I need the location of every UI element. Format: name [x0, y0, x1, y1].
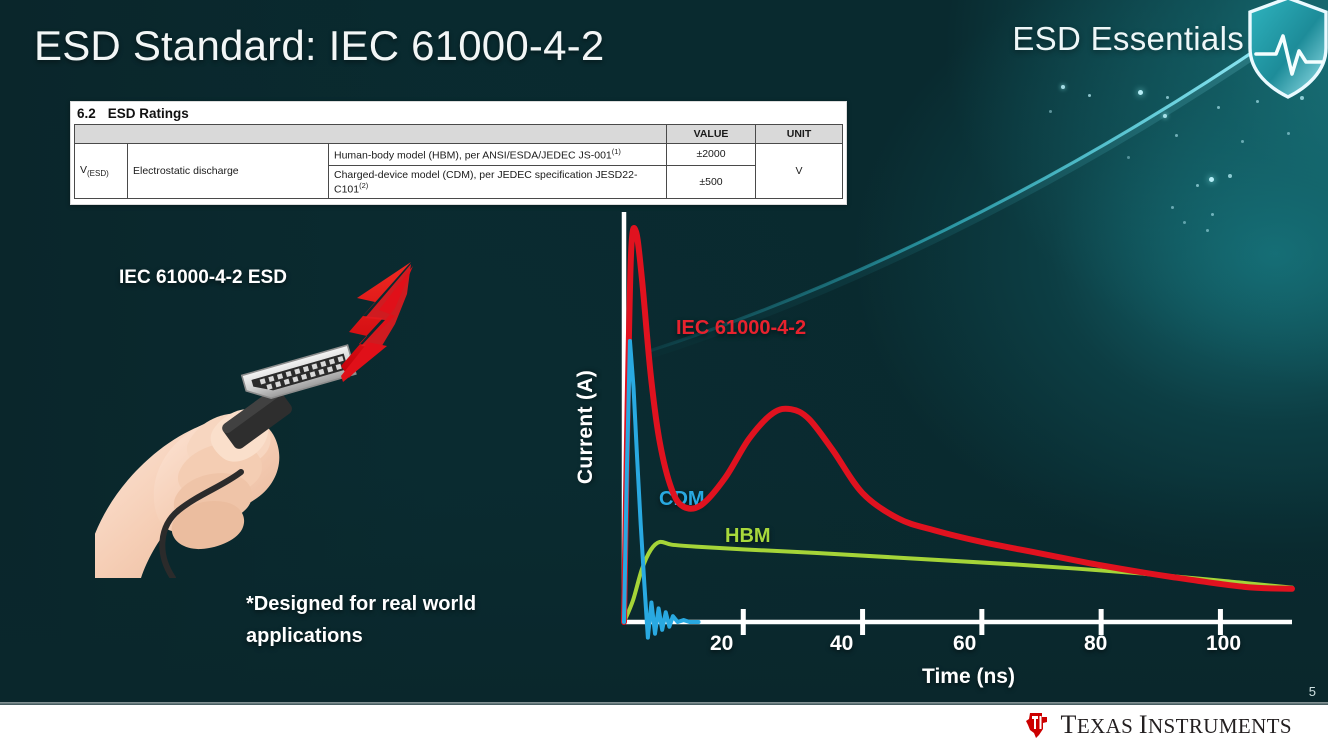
- param-symbol-subscript: (ESD): [87, 169, 109, 178]
- table-section-heading: 6.2ESD Ratings: [71, 102, 846, 124]
- table-header-blank: [75, 125, 667, 144]
- table-header-value: VALUE: [667, 125, 756, 144]
- star-particle: [1061, 85, 1065, 89]
- table-row: V(ESD) Electrostatic discharge Human-bod…: [75, 144, 843, 166]
- slide-footer: TEXAS INSTRUMENTS: [0, 705, 1328, 746]
- ti-logo: TEXAS INSTRUMENTS: [1022, 710, 1292, 740]
- slide-canvas: ESD Standard: IEC 61000-4-2 ESD Essentia…: [0, 0, 1328, 746]
- star-particle: [1228, 174, 1232, 178]
- star-particle: [1049, 110, 1052, 113]
- ti-wordmark-i: I: [1139, 710, 1148, 739]
- star-particle: [1196, 184, 1199, 187]
- unit-value: V: [756, 144, 843, 199]
- cdm-value: ±500: [667, 165, 756, 199]
- hand-holding-hdmi-cable-icon: [95, 258, 440, 578]
- star-particle: [1217, 106, 1220, 109]
- param-symbol: V: [80, 164, 87, 176]
- param-name-cell: Electrostatic discharge: [128, 144, 329, 199]
- ti-wordmark-exas: EXAS: [1077, 714, 1139, 738]
- hbm-value: ±2000: [667, 144, 756, 166]
- star-particle: [1088, 94, 1091, 97]
- ti-wordmark-nstruments: NSTRUMENTS: [1148, 714, 1292, 738]
- star-particle: [1209, 177, 1214, 182]
- hbm-description: Human-body model (HBM), per ANSI/ESDA/JE…: [334, 150, 612, 162]
- star-particle: [1175, 134, 1178, 137]
- table-header-unit: UNIT: [756, 125, 843, 144]
- section-title: ESD Ratings: [108, 106, 189, 121]
- ti-wordmark: TEXAS INSTRUMENTS: [1061, 710, 1292, 740]
- star-particle: [1287, 132, 1290, 135]
- star-particle: [1256, 100, 1259, 103]
- star-particle: [1166, 96, 1169, 99]
- shield-pulse-icon: [1246, 0, 1328, 100]
- note-text: *Designed for real world applications: [246, 588, 546, 652]
- section-number: 6.2: [77, 106, 96, 121]
- param-symbol-cell: V(ESD): [75, 144, 128, 199]
- star-particle: [1241, 140, 1244, 143]
- row-description-hbm: Human-body model (HBM), per ANSI/ESDA/JE…: [329, 144, 667, 166]
- ti-wordmark-t: T: [1061, 710, 1077, 739]
- esd-waveform-chart: [570, 200, 1310, 700]
- esd-ratings-table: 6.2ESD Ratings VALUE UNIT V(ESD) Electro…: [70, 101, 847, 205]
- page-title: ESD Standard: IEC 61000-4-2: [34, 22, 604, 70]
- cdm-description: Charged-device model (CDM), per JEDEC sp…: [334, 169, 637, 196]
- star-particle: [1138, 90, 1143, 95]
- star-particle: [1163, 114, 1167, 118]
- ti-texas-logo-icon: [1022, 710, 1052, 740]
- table-header-row: VALUE UNIT: [75, 125, 843, 144]
- cdm-footnote: (2): [359, 181, 368, 190]
- row-description-cdm: Charged-device model (CDM), per JEDEC sp…: [329, 165, 667, 199]
- hbm-footnote: (1): [612, 147, 621, 156]
- star-particle: [1127, 156, 1130, 159]
- brand-label: ESD Essentials: [1012, 20, 1244, 58]
